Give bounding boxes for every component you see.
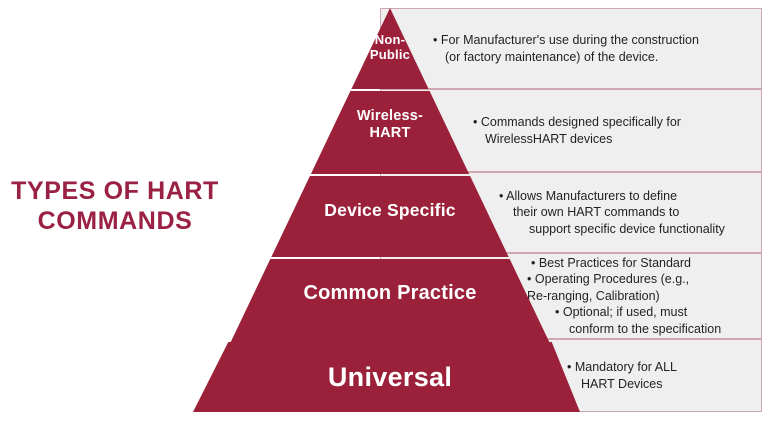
pyramid-label-universal: Universal bbox=[220, 362, 560, 393]
pyramid-label-wireless-hart: Wireless- HART bbox=[330, 108, 450, 141]
description-panel-non-public: • For Manufacturer's use during the cons… bbox=[380, 8, 762, 89]
pyramid-label-non-public: Non- Public bbox=[346, 33, 434, 63]
bullet-line: HART Devices bbox=[567, 376, 751, 393]
bullet-line: (or factory maintenance) of the device. bbox=[433, 49, 751, 66]
bullet-line: • Commands designed specifically for bbox=[473, 114, 751, 131]
pyramid-label-common-practice: Common Practice bbox=[255, 282, 525, 305]
bullet-line: Re-ranging, Calibration) bbox=[521, 288, 751, 305]
bullet-line: conform to the specification bbox=[521, 321, 751, 338]
page-title-line-1: TYPES OF HART bbox=[0, 176, 230, 206]
bullet-line: WirelessHART devices bbox=[473, 131, 751, 148]
bullet-line: their own HART commands to bbox=[499, 204, 751, 221]
bullet-line: support specific device functionality bbox=[499, 221, 751, 238]
bullet-line: • Operating Procedures (e.g., bbox=[521, 271, 751, 288]
bullet-line: • Best Practices for Standard bbox=[521, 255, 751, 272]
description-text-non-public: • For Manufacturer's use during the cons… bbox=[381, 32, 761, 65]
infographic-canvas: TYPES OF HART COMMANDS • For Manufacture… bbox=[0, 0, 768, 423]
bullet-line: • Mandatory for ALL bbox=[567, 359, 751, 376]
page-title: TYPES OF HART COMMANDS bbox=[0, 176, 230, 236]
bullet-line: • For Manufacturer's use during the cons… bbox=[433, 32, 751, 49]
page-title-line-2: COMMANDS bbox=[0, 206, 230, 236]
pyramid-label-device-specific: Device Specific bbox=[290, 200, 490, 220]
bullet-line: • Optional; if used, must bbox=[521, 304, 751, 321]
bullet-line: • Allows Manufacturers to define bbox=[499, 188, 751, 205]
